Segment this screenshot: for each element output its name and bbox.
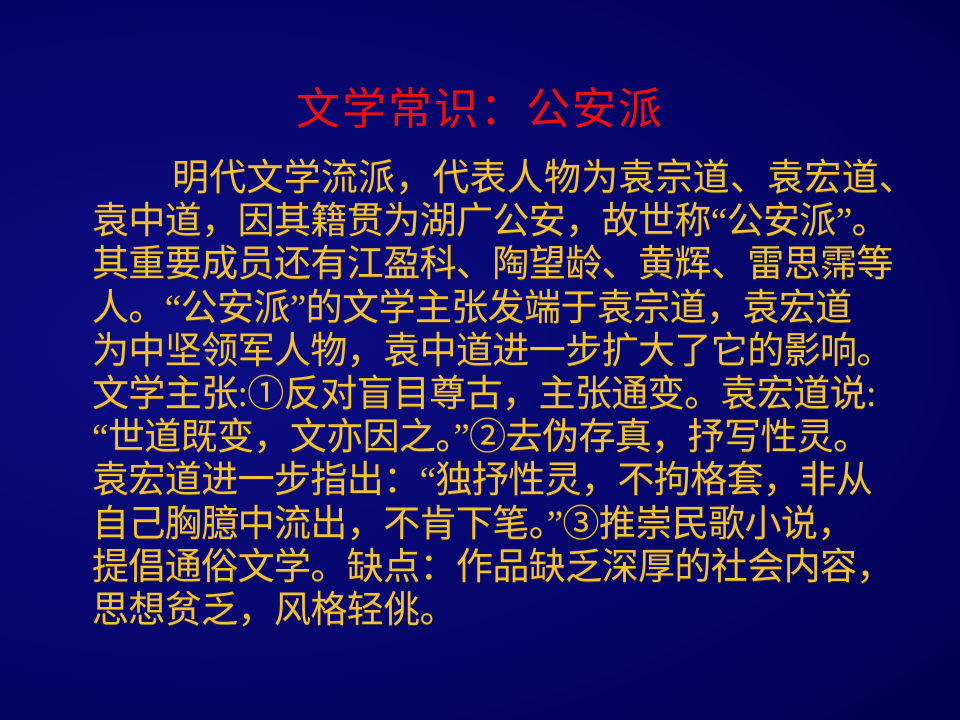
body-line: 文学主张:①反对盲目尊古，主张通变。袁宏道说:	[92, 373, 942, 416]
presentation-slide: 文学常识：公安派 明代文学流派，代表人物为袁宗道、袁宏道、 袁中道，因其籍贯为湖…	[0, 0, 960, 720]
body-line: 人。“公安派”的文学主张发端于袁宗道，袁宏道	[92, 287, 942, 330]
slide-body-text: 明代文学流派，代表人物为袁宗道、袁宏道、 袁中道，因其籍贯为湖广公安，故世称“公…	[92, 157, 942, 632]
body-line: 为中坚领军人物，袁中道进一步扩大了它的影响。	[92, 330, 942, 373]
body-line: 明代文学流派，代表人物为袁宗道、袁宏道、	[92, 157, 942, 200]
slide-title: 文学常识：公安派	[296, 84, 664, 136]
body-line: “世道既变，文亦因之。”②去伪存真，抒写性灵。	[92, 416, 942, 459]
body-line: 思想贫乏，风格轻佻。	[92, 589, 942, 632]
body-line: 其重要成员还有江盈科、陶望龄、黄辉、雷思霈等	[92, 243, 942, 286]
slide-title-block: 文学常识：公安派	[0, 84, 960, 136]
body-line: 提倡通俗文学。缺点：作品缺乏深厚的社会内容，	[92, 546, 942, 589]
body-line: 自己胸臆中流出，不肯下笔。”③推崇民歌小说，	[92, 503, 942, 546]
body-line: 袁宏道进一步指出：“独抒性灵，不拘格套，非从	[92, 459, 942, 502]
body-line: 袁中道，因其籍贯为湖广公安，故世称“公安派”。	[92, 200, 942, 243]
